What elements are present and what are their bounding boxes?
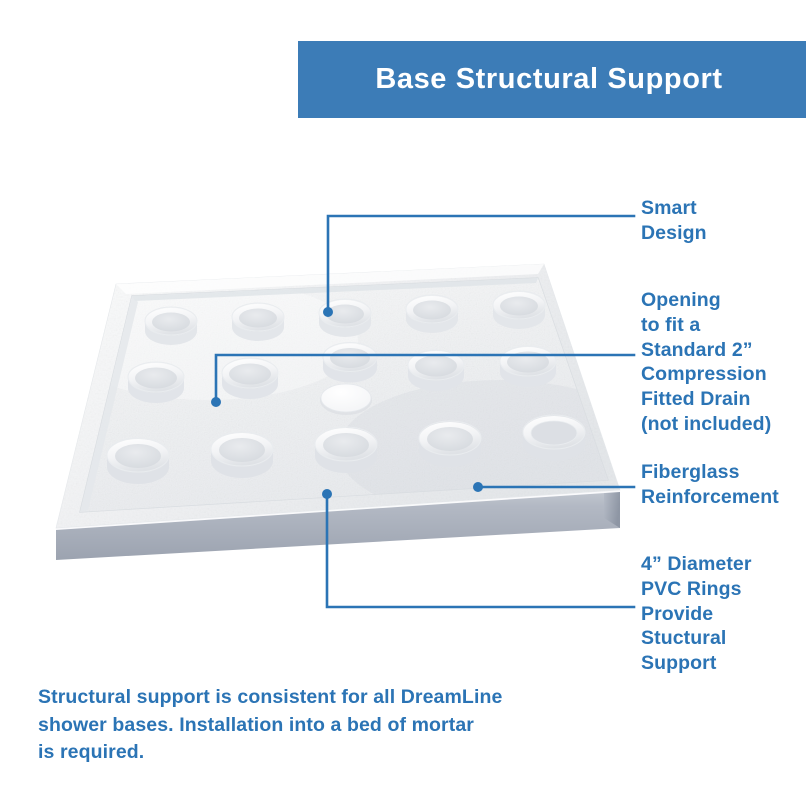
callout-line: Compression — [641, 362, 771, 387]
callout-line: PVC Rings — [641, 577, 752, 602]
callout-line: Provide — [641, 602, 752, 627]
header-banner: Base Structural Support — [298, 41, 806, 118]
callout-line: Support — [641, 651, 752, 676]
pvc-ring — [222, 358, 278, 399]
callout-line: Fiberglass — [641, 460, 779, 485]
pvc-ring — [493, 291, 545, 329]
shower-base-illustration — [28, 250, 638, 570]
pvc-ring — [323, 343, 377, 383]
callout-fiberglass-reinforcement: Fiberglass Reinforcement — [641, 460, 779, 510]
callout-line: Standard 2” — [641, 338, 771, 363]
caption-line: is required. — [38, 739, 578, 767]
caption-line: shower bases. Installation into a bed of… — [38, 712, 578, 740]
pvc-ring — [319, 299, 371, 337]
infographic-canvas: Base Structural Support — [0, 0, 806, 806]
callout-line: Design — [641, 221, 707, 246]
callout-line: (not included) — [641, 412, 771, 437]
callout-line: 4” Diameter — [641, 552, 752, 577]
callout-smart-design: Smart Design — [641, 196, 707, 246]
callout-line: Opening — [641, 288, 771, 313]
pvc-ring — [315, 427, 377, 473]
callout-line: Smart — [641, 196, 707, 221]
pvc-ring — [128, 362, 184, 403]
page-title: Base Structural Support — [375, 63, 728, 96]
pvc-ring — [419, 421, 481, 467]
pvc-ring — [500, 346, 556, 387]
shower-base-svg — [28, 250, 638, 570]
pvc-ring — [523, 415, 585, 461]
callout-line: Fitted Drain — [641, 387, 771, 412]
callout-line: to fit a — [641, 313, 771, 338]
callout-opening: Opening to fit a Standard 2” Compression… — [641, 288, 771, 437]
pvc-ring — [406, 295, 458, 333]
callout-pvc-rings: 4” Diameter PVC Rings Provide Stuctural … — [641, 552, 752, 676]
drain-opening — [320, 384, 372, 415]
pvc-ring — [145, 307, 197, 345]
pvc-ring — [211, 432, 273, 478]
callout-line: Stuctural — [641, 626, 752, 651]
callout-line: Reinforcement — [641, 485, 779, 510]
pvc-ring — [232, 303, 284, 341]
caption-line: Structural support is consistent for all… — [38, 684, 578, 712]
pvc-ring — [408, 350, 464, 391]
pvc-ring — [107, 438, 169, 484]
footer-caption: Structural support is consistent for all… — [38, 684, 578, 767]
